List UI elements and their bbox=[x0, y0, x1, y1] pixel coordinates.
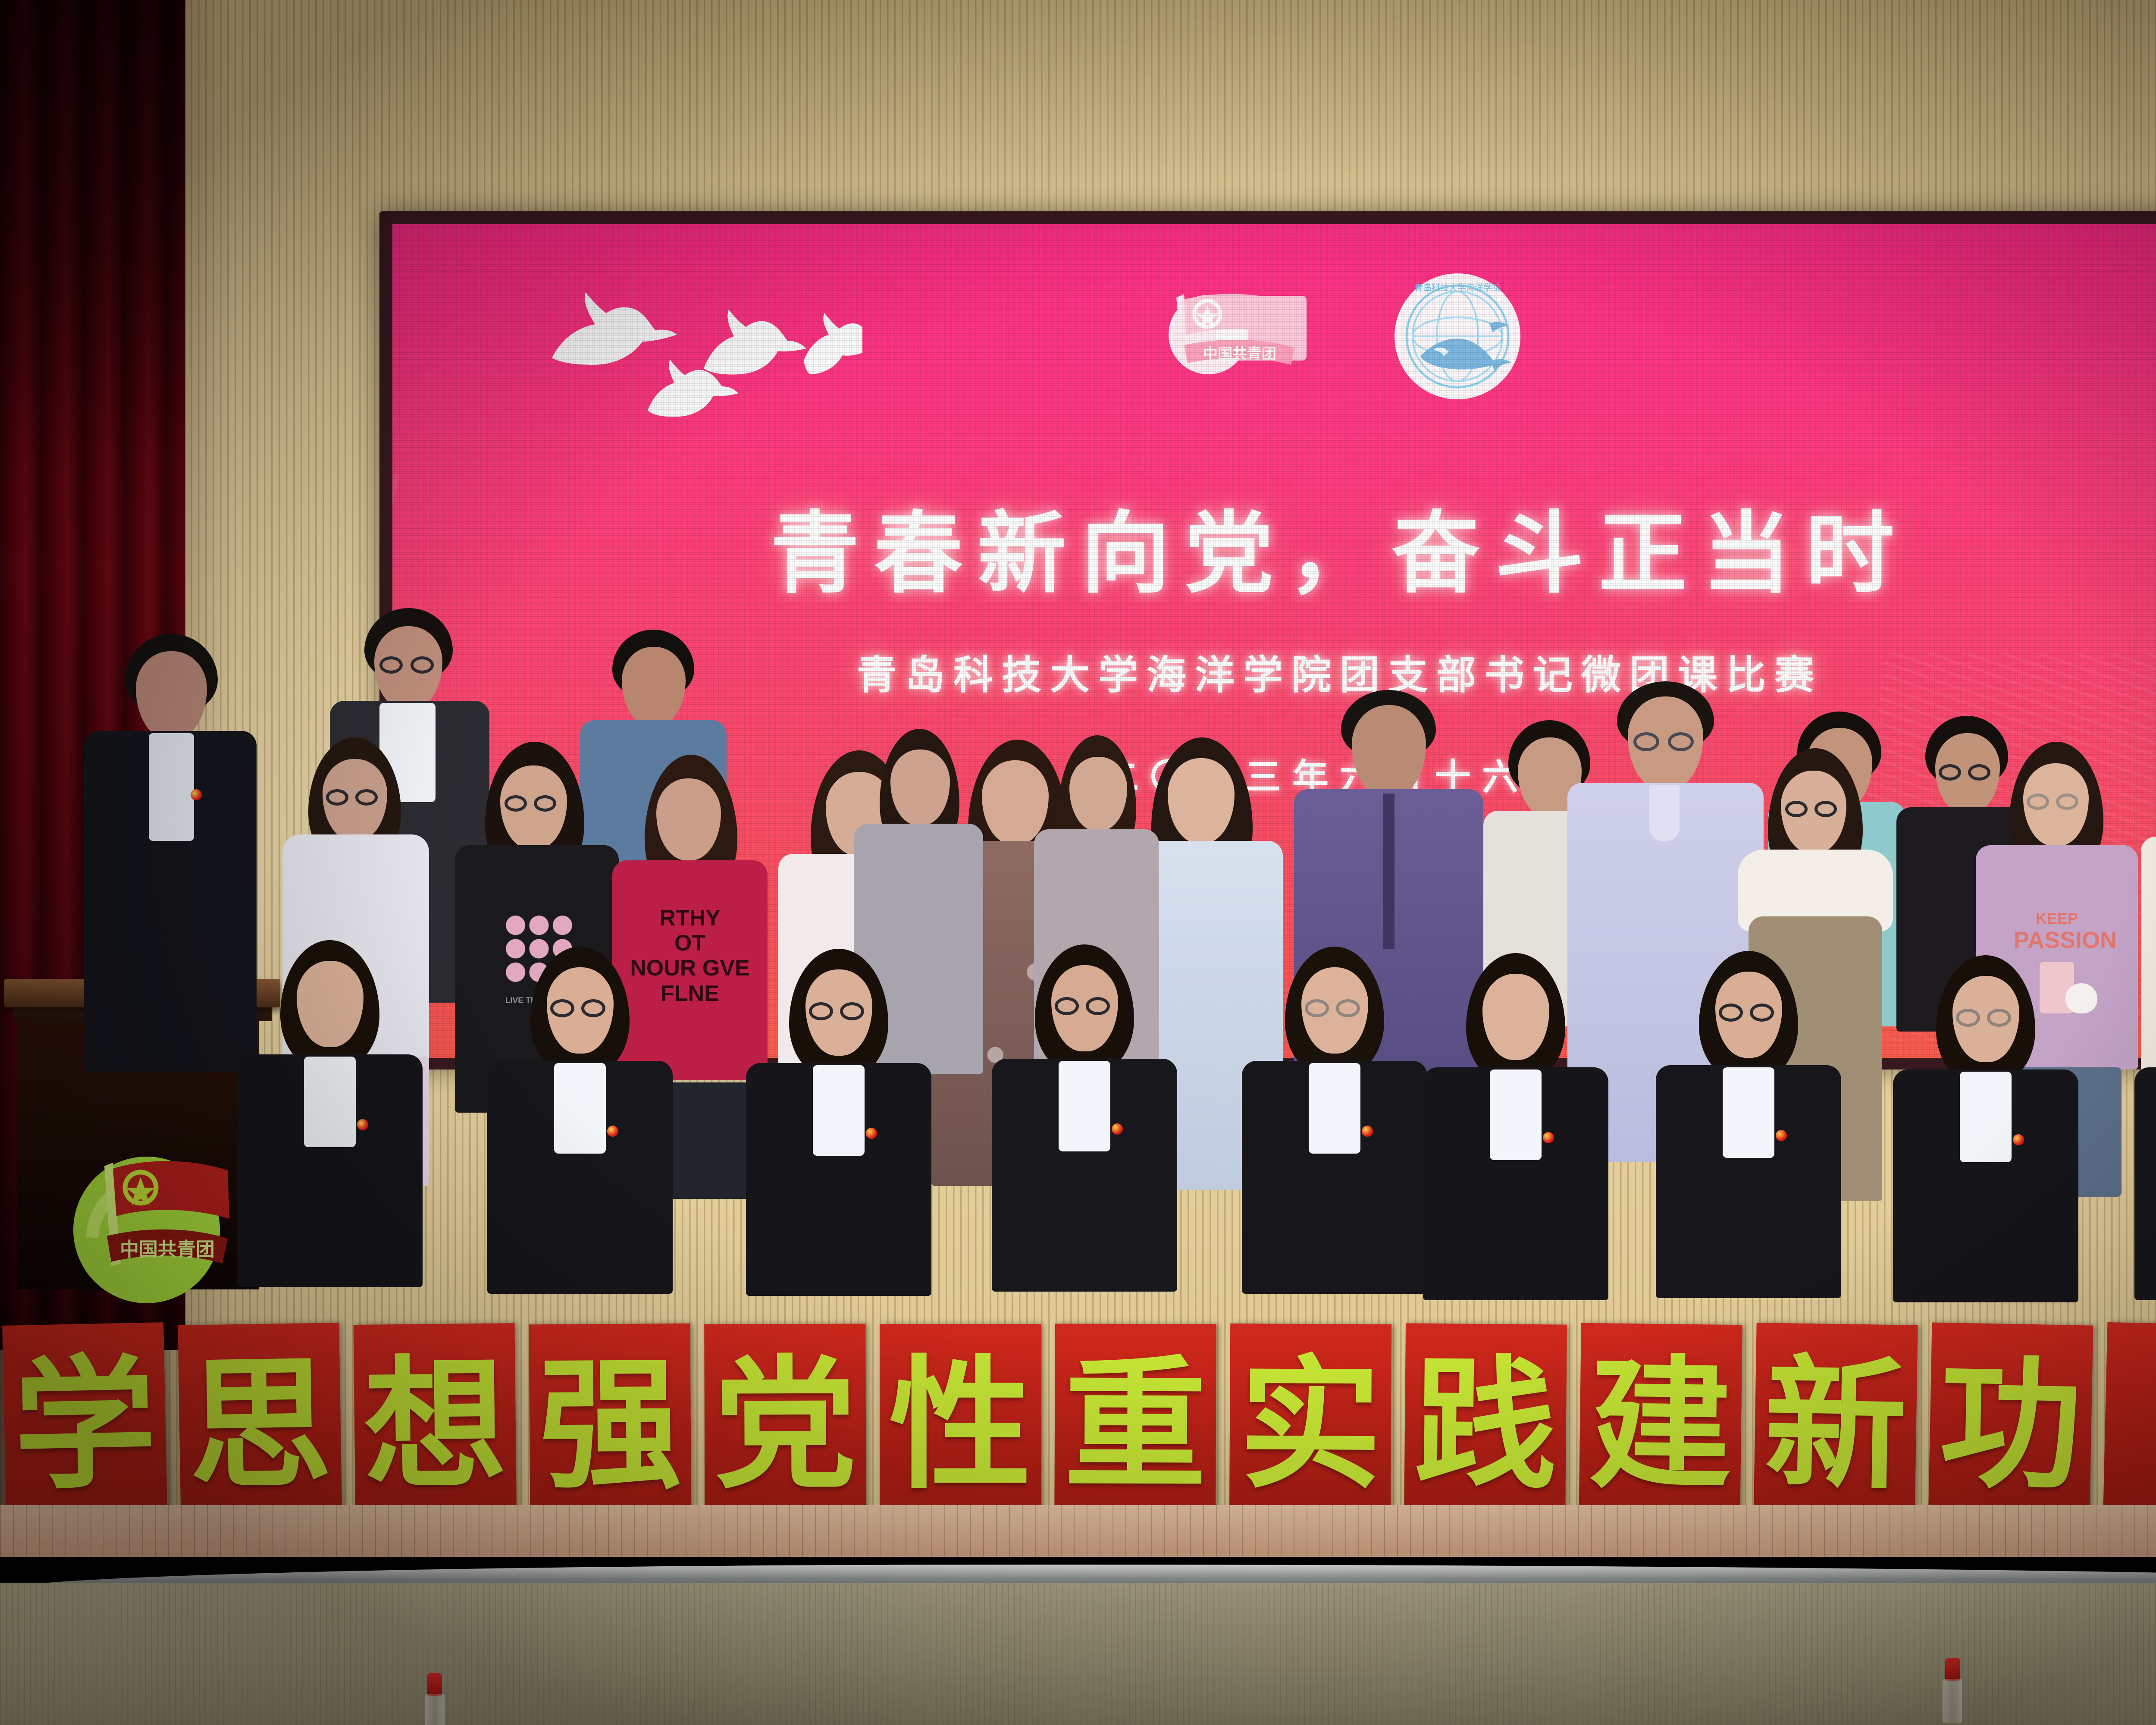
svg-text:中国共青团: 中国共青团 bbox=[1203, 345, 1276, 363]
person-front-8 bbox=[1889, 955, 2083, 1300]
person-front-5 bbox=[1238, 947, 1432, 1292]
banner-card-7: 重 bbox=[1054, 1324, 1216, 1527]
hall-floor bbox=[0, 1583, 2156, 1725]
photo-scene: 中国共青团 青岛科技 bbox=[0, 0, 2156, 1725]
group-photo-people: LIVE THIS AGAIN RTHY OT NOUR GVE FLNE bbox=[0, 664, 2156, 1363]
banner-card-9: 践 bbox=[1404, 1323, 1567, 1527]
banner-card-4: 强 bbox=[529, 1324, 691, 1527]
banner-card-6: 性 bbox=[880, 1324, 1041, 1527]
communist-youth-league-emblem: 中国共青团 bbox=[1143, 280, 1315, 392]
banner-card-5: 党 bbox=[704, 1324, 866, 1527]
banner-card-8: 实 bbox=[1229, 1324, 1391, 1527]
water-bottle-1 bbox=[425, 1673, 445, 1725]
water-bottle-2 bbox=[1943, 1658, 1962, 1723]
banner-card-12: 功 bbox=[1928, 1322, 2093, 1528]
person-front-6 bbox=[1419, 953, 1613, 1298]
banner-card-11: 新 bbox=[1753, 1323, 1918, 1528]
svg-text:青岛科技大学海洋学院: 青岛科技大学海洋学院 bbox=[1414, 282, 1501, 293]
person-front-9 bbox=[2130, 953, 2156, 1298]
banner-card-13 bbox=[2103, 1322, 2156, 1528]
banner-card-1: 学 bbox=[2, 1322, 168, 1528]
banner-card-10: 建 bbox=[1579, 1323, 1742, 1528]
person-front-1 bbox=[233, 940, 427, 1285]
banner-card-2: 思 bbox=[178, 1323, 342, 1528]
person-front-2 bbox=[483, 947, 677, 1292]
dove-icon-group bbox=[535, 276, 862, 423]
screen-title: 青春新向党，奋斗正当时 bbox=[392, 509, 2156, 598]
stage-front-panel bbox=[0, 1505, 2156, 1557]
ocean-college-emblem: 青岛科技大学海洋学院 bbox=[1393, 272, 1522, 401]
person-front-4 bbox=[987, 944, 1181, 1289]
banner-card-3: 想 bbox=[354, 1323, 517, 1527]
person-front-3 bbox=[742, 949, 936, 1294]
person-front-7 bbox=[1651, 951, 1846, 1296]
purple-tee-print: KEEP PASSION bbox=[2014, 910, 2100, 953]
